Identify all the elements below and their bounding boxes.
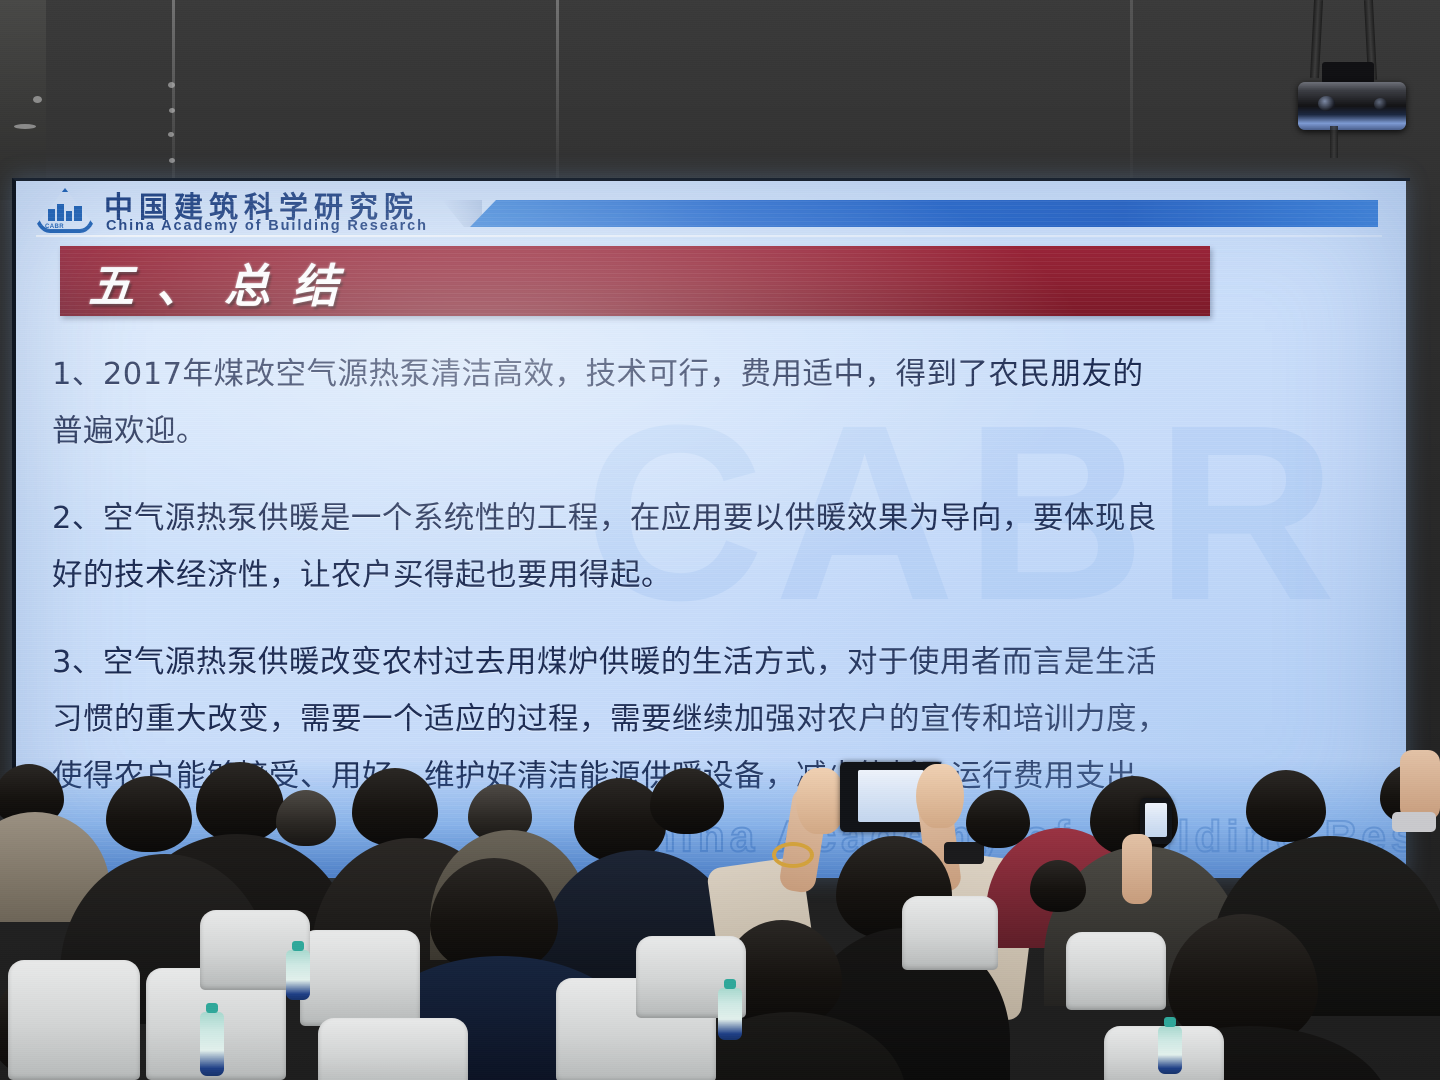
water-bottle: [718, 988, 742, 1040]
audience-head: [196, 762, 284, 842]
projector-cable: [1330, 126, 1338, 158]
bullet-2-line-1: 2、空气源热泵供暖是一个系统性的工程，在应用要以供暖效果为导向，要体现良: [52, 490, 1406, 547]
audience-area: [0, 750, 1440, 1080]
water-bottle: [1158, 1026, 1182, 1074]
wall-speck: [168, 132, 174, 137]
bullet-1-line-2: 普遍欢迎。: [52, 403, 1406, 460]
projector-lens: [1318, 96, 1335, 111]
chair-back: [8, 960, 140, 1080]
audience-head: [1030, 860, 1086, 912]
slide-bullet-2: 2、空气源热泵供暖是一个系统性的工程，在应用要以供暖效果为导向，要体现良 好的技…: [52, 490, 1406, 604]
organization-name-en: China Academy of Building Research: [106, 218, 428, 234]
chair-back: [300, 930, 420, 1026]
chair-back: [902, 896, 998, 970]
wristwatch-right: [1392, 812, 1436, 832]
bullet-1-line-1: 1、2017年煤改空气源热泵清洁高效，技术可行，费用适中，得到了农民朋友的: [52, 346, 1406, 403]
wall-speck: [33, 96, 42, 103]
bullet-3-line-1: 3、空气源热泵供暖改变农村过去用煤炉供暖的生活方式，对于使用者而言是生活: [52, 634, 1406, 691]
projector-mount-bracket: [1322, 62, 1374, 84]
audience-head: [276, 790, 336, 846]
wall-speck: [14, 124, 36, 129]
audience-head: [650, 768, 724, 834]
photographer-hand-right: [916, 764, 964, 828]
audience-raised-arm: [1400, 750, 1440, 820]
bullet-2-line-2: 好的技术经济性，让农户买得起也要用得起。: [52, 547, 1406, 604]
projector-lens-secondary: [1374, 98, 1387, 110]
audience-forearm: [1122, 834, 1152, 904]
water-bottle: [200, 1012, 224, 1076]
wristwatch: [944, 842, 984, 864]
audience-head: [106, 776, 192, 852]
header-divider: [36, 235, 1382, 237]
chair-back: [318, 1018, 468, 1080]
slide-title: 五、总结: [88, 250, 360, 316]
projector-body: [1298, 82, 1406, 130]
cabr-logo-icon: CABR: [34, 188, 96, 233]
wall-seam: [556, 0, 559, 178]
audience-head: [966, 790, 1030, 848]
audience-head: [352, 768, 438, 846]
bullet-3-line-2: 习惯的重大改变，需要一个适应的过程，需要继续加强对农户的宣传和培训力度，: [52, 691, 1406, 748]
wall-speck: [169, 158, 175, 163]
wall-speck: [169, 108, 175, 113]
water-bottle: [286, 950, 310, 1000]
slide-header: CABR 中国建筑科学研究院 China Academy of Building…: [12, 178, 1406, 240]
header-accent-bar: [470, 200, 1378, 227]
logo-building-bars: [48, 204, 82, 221]
conference-photo-scene: CABR CABR 中国建筑科学研究院 China Academy of Bui…: [0, 0, 1440, 1080]
audience-head: [1246, 770, 1326, 842]
photographer-hand-left: [796, 768, 846, 834]
slide-title-band: 五、总结: [60, 246, 1210, 316]
camera-phone-secondary-screen: [1145, 803, 1167, 837]
chair-back: [1066, 932, 1166, 1010]
camera-phone-screen: [858, 770, 924, 822]
bracelet: [772, 842, 814, 868]
wall-speck: [168, 82, 175, 88]
wall-seam: [1130, 0, 1133, 178]
slide-bullet-1: 1、2017年煤改空气源热泵清洁高效，技术可行，费用适中，得到了农民朋友的 普遍…: [52, 346, 1406, 460]
logo-wordmark: CABR: [45, 224, 64, 230]
